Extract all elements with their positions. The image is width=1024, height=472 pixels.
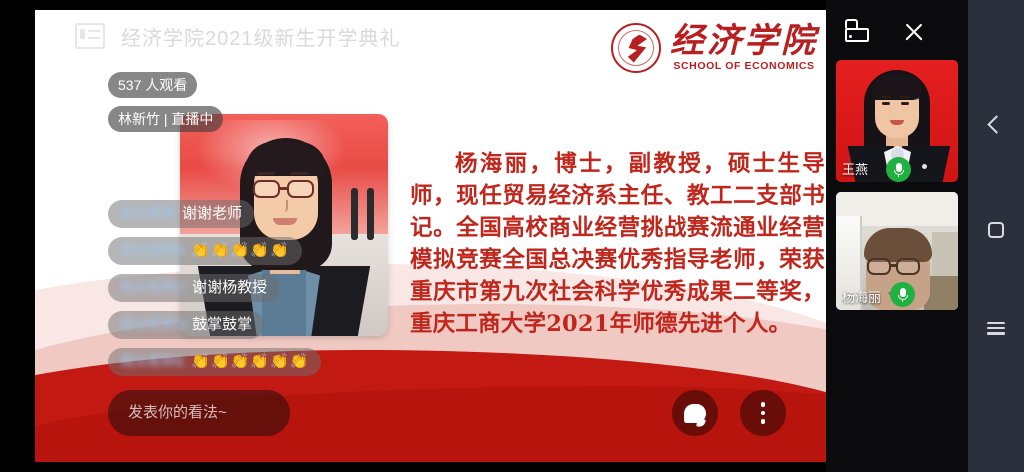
chat-username: 观众昵称	[120, 204, 176, 223]
page-title: 经济学院2021级新生开学典礼	[121, 26, 401, 52]
chat-username: 观众昵称E	[120, 352, 185, 371]
comment-placeholder: 发表你的看法~	[128, 403, 227, 423]
logo-english-name: SCHOOL OF ECONOMICS	[673, 60, 814, 73]
viewer-count-badge: 537 人观看	[108, 72, 197, 98]
participant-tile-wang-yan[interactable]: 王燕	[836, 60, 958, 182]
chat-username: 观众昵称B	[120, 241, 185, 260]
back-chevron-icon	[987, 115, 1005, 133]
home-button[interactable]	[968, 222, 1024, 238]
phone-screen: 经济学院2021级新生开学典礼 经济学院 SCHOOL OF ECONOMICS	[0, 0, 1024, 472]
more-options-button[interactable]	[740, 390, 786, 436]
list-item: 观众昵称 谢谢老师	[108, 200, 254, 228]
microphone-on-icon	[886, 157, 911, 182]
chat-message: 谢谢老师	[182, 204, 242, 223]
participant-name: 王燕	[842, 162, 868, 177]
screen-lock-button[interactable]	[840, 16, 874, 46]
chat-username: 观众昵称D	[120, 315, 186, 334]
more-options-icon	[761, 402, 766, 424]
screen-lock-icon	[844, 19, 870, 43]
speaker-biography-text: 杨海丽，博士，副教授，硕士生导师，现任贸易经济系主任、教工二支部书记。全国高校商…	[410, 148, 825, 340]
presentation-icon	[75, 23, 105, 49]
participant-tile-yang-haili[interactable]: 杨海丽	[836, 192, 958, 310]
recents-button[interactable]	[968, 322, 1024, 335]
school-logo: 经济学院 SCHOOL OF ECONOMICS	[611, 22, 818, 73]
chat-message: 👏👏👏👏👏👏	[191, 352, 309, 371]
recent-apps-icon	[987, 322, 1005, 335]
comment-input[interactable]: 发表你的看法~	[108, 390, 290, 436]
shared-slide-stage: 经济学院2021级新生开学典礼 经济学院 SCHOOL OF ECONOMICS	[35, 10, 826, 462]
list-item: 观众昵称B 👏👏👏👏👏	[108, 237, 302, 265]
chat-bubble-icon	[684, 404, 706, 423]
host-status-badge: 林新竹 | 直播中	[108, 106, 223, 132]
participant-name: 杨海丽	[842, 290, 881, 305]
live-chat-list[interactable]: 观众昵称 谢谢老师 观众昵称B 👏👏👏👏👏 观众昵称C 谢谢杨教授 观众昵称D …	[108, 200, 368, 385]
list-item: 观众昵称D 鼓掌鼓掌	[108, 311, 264, 339]
close-button[interactable]	[894, 16, 934, 48]
meeting-side-panel: 王燕 杨海丽	[826, 0, 968, 472]
chat-message: 鼓掌鼓掌	[192, 315, 252, 334]
chat-username: 观众昵称C	[120, 278, 186, 297]
list-item: 观众昵称C 谢谢杨教授	[108, 274, 279, 302]
chat-bubble-button[interactable]	[672, 390, 718, 436]
close-icon	[902, 20, 926, 44]
list-item: 观众昵称E 👏👏👏👏👏👏	[108, 348, 321, 376]
school-emblem-icon	[611, 23, 661, 73]
chat-message: 谢谢杨教授	[192, 278, 267, 297]
panel-toolbar	[826, 10, 968, 52]
microphone-on-icon	[890, 282, 915, 307]
android-navigation-bar	[968, 0, 1024, 472]
home-square-icon	[988, 222, 1004, 238]
chat-message: 👏👏👏👏👏	[191, 241, 289, 260]
logo-chinese-name: 经济学院	[670, 22, 818, 60]
back-button[interactable]	[968, 118, 1024, 131]
